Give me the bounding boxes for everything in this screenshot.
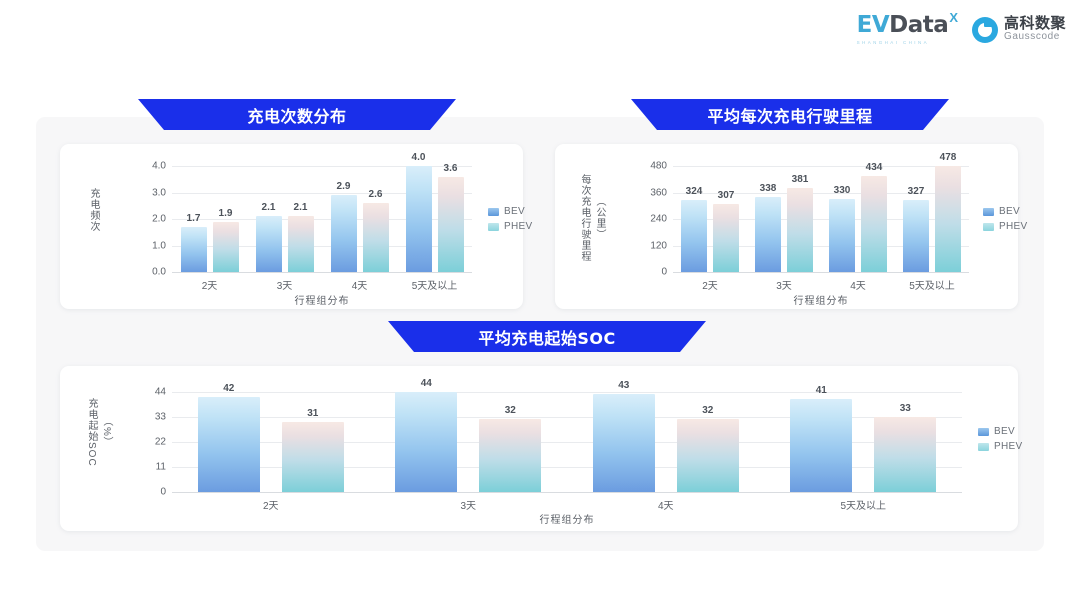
- y-tick-label: 11: [156, 462, 166, 473]
- bar-group: 2.12.13天: [247, 166, 322, 272]
- gausscode-name-cn: 高科数聚: [1004, 16, 1066, 32]
- bar-value-label: 2.9: [337, 181, 351, 192]
- bar-groups: 42312天44323天43324天41335天及以上: [172, 392, 962, 492]
- y-tick-label: 3.0: [152, 187, 166, 198]
- legend-label: PHEV: [994, 441, 1022, 452]
- legend-label: PHEV: [504, 221, 532, 232]
- chart-banner-1: 充电次数分布: [138, 99, 456, 130]
- plot-area-3: 01122334442312天44323天43324天41335天及以上: [172, 392, 962, 492]
- legend-swatch-phev: [983, 223, 994, 231]
- evdata-logo: EVData X SHANGHAI CHINA: [857, 14, 958, 45]
- bar-value-label: 43: [618, 380, 629, 391]
- bar-value-label: 330: [834, 185, 851, 196]
- y-tick-label: 44: [155, 387, 166, 398]
- y-axis-label-2: 每次充电行驶里程（公里）: [577, 174, 607, 262]
- bar-phev[interactable]: 32: [479, 419, 541, 492]
- x-tick-label: 2天: [202, 277, 218, 292]
- bar-bev[interactable]: 2.1: [256, 216, 282, 272]
- y-axis-label-line1: 充电频次: [86, 188, 101, 232]
- y-axis-label-3: 充电起始SOC（%）: [84, 398, 114, 467]
- y-axis-label-1: 充电频次: [86, 188, 101, 232]
- x-tick-label: 4天: [352, 277, 368, 292]
- y-tick-label: 240: [650, 214, 667, 225]
- x-tick-label: 2天: [702, 277, 718, 292]
- plot-area-2: 01202403604803243072天3383813天3304344天327…: [673, 166, 969, 272]
- bar-group: 3383813天: [747, 166, 821, 272]
- y-axis-label-line2: （公里）: [592, 196, 607, 240]
- chart-title-1: 充电次数分布: [247, 103, 346, 127]
- x-axis-label-2: 行程组分布: [673, 292, 969, 307]
- gausscode-logo: 高科数聚 Gausscode: [972, 16, 1066, 42]
- legend-item-bev[interactable]: BEV: [983, 206, 1027, 217]
- legend-item-phev[interactable]: PHEV: [983, 221, 1027, 232]
- bar-value-label: 2.1: [294, 202, 308, 213]
- bar-group: 2.92.64天: [322, 166, 397, 272]
- legend-label: BEV: [999, 206, 1020, 217]
- evdata-wordmark: EVData: [857, 14, 949, 37]
- legend-item-bev[interactable]: BEV: [978, 426, 1022, 437]
- bar-value-label: 3.6: [444, 163, 458, 174]
- logo-bar: EVData X SHANGHAI CHINA 高科数聚 Gausscode: [857, 14, 1066, 45]
- bar-value-label: 434: [866, 162, 883, 173]
- x-tick-label: 5天及以上: [909, 277, 955, 292]
- bar-phev[interactable]: 33: [874, 417, 936, 492]
- chart-area-3: 充电起始SOC（%）01122334442312天44323天43324天413…: [60, 366, 1018, 531]
- legend-label: PHEV: [999, 221, 1027, 232]
- legend-3: BEVPHEV: [978, 426, 1022, 452]
- x-tick-label: 3天: [277, 277, 293, 292]
- bar-groups: 3243072天3383813天3304344天3274785天及以上: [673, 166, 969, 272]
- y-tick-label: 0.0: [152, 267, 166, 278]
- bar-value-label: 33: [900, 403, 911, 414]
- bar-phev[interactable]: 381: [787, 188, 813, 272]
- legend-swatch-bev: [978, 428, 989, 436]
- bar-group: 3304344天: [821, 166, 895, 272]
- bar-value-label: 32: [505, 405, 516, 416]
- y-tick-label: 2.0: [152, 214, 166, 225]
- y-tick-label: 22: [155, 437, 166, 448]
- x-tick-label: 2天: [263, 497, 279, 512]
- legend-swatch-bev: [983, 208, 994, 216]
- bar-bev[interactable]: 1.7: [181, 227, 207, 272]
- bar-value-label: 42: [223, 383, 234, 394]
- legend-item-phev[interactable]: PHEV: [978, 441, 1022, 452]
- bar-bev[interactable]: 2.9: [331, 195, 357, 272]
- chart-area-1: 充电频次0.01.02.03.04.01.71.92天2.12.13天2.92.…: [60, 144, 523, 309]
- slide-root: EVData X SHANGHAI CHINA 高科数聚 Gausscode 充…: [0, 0, 1080, 608]
- bar-value-label: 41: [816, 385, 827, 396]
- bar-phev[interactable]: 2.6: [363, 203, 389, 272]
- y-tick-label: 1.0: [152, 240, 166, 251]
- bar-group: 41335天及以上: [765, 392, 963, 492]
- bar-phev[interactable]: 3.6: [438, 177, 464, 272]
- bar-bev[interactable]: 42: [198, 397, 260, 492]
- y-axis-label-line1: 每次充电行驶里程: [577, 174, 592, 262]
- bar-value-label: 1.9: [219, 208, 233, 219]
- legend-1: BEVPHEV: [488, 206, 532, 232]
- bar-bev[interactable]: 43: [593, 394, 655, 492]
- chart-card-2: 每次充电行驶里程（公里）01202403604803243072天3383813…: [555, 144, 1018, 309]
- bar-value-label: 32: [702, 405, 713, 416]
- y-tick-label: 120: [650, 240, 667, 251]
- y-tick-label: 480: [650, 161, 667, 172]
- y-axis-label-line2: （%）: [99, 416, 114, 448]
- bar-value-label: 381: [792, 174, 809, 185]
- bar-phev[interactable]: 1.9: [213, 222, 239, 272]
- bar-group: 3243072天: [673, 166, 747, 272]
- x-tick-label: 3天: [460, 497, 476, 512]
- legend-item-bev[interactable]: BEV: [488, 206, 532, 217]
- legend-swatch-bev: [488, 208, 499, 216]
- x-axis-label-1: 行程组分布: [172, 292, 472, 307]
- y-tick-label: 360: [650, 187, 667, 198]
- bar-phev[interactable]: 2.1: [288, 216, 314, 272]
- bar-bev[interactable]: 4.0: [406, 166, 432, 272]
- y-tick-label: 0: [160, 487, 166, 498]
- bar-value-label: 4.0: [412, 152, 426, 163]
- chart-banner-2: 平均每次充电行驶里程: [631, 99, 949, 130]
- x-axis-line: [172, 272, 472, 273]
- x-axis-line: [673, 272, 969, 273]
- x-tick-label: 4天: [850, 277, 866, 292]
- bar-groups: 1.71.92天2.12.13天2.92.64天4.03.65天及以上: [172, 166, 472, 272]
- y-tick-label: 0: [661, 267, 667, 278]
- bar-phev[interactable]: 32: [677, 419, 739, 492]
- x-tick-label: 4天: [658, 497, 674, 512]
- bar-phev[interactable]: 31: [282, 422, 344, 492]
- bar-value-label: 44: [421, 378, 432, 389]
- x-tick-label: 3天: [776, 277, 792, 292]
- x-axis-label-3: 行程组分布: [172, 511, 962, 526]
- bar-bev[interactable]: 327: [903, 200, 929, 272]
- evdata-prefix: EV: [857, 12, 890, 38]
- legend-swatch-phev: [488, 223, 499, 231]
- bar-group: 3274785天及以上: [895, 166, 969, 272]
- gausscode-name-en: Gausscode: [1004, 32, 1066, 43]
- bar-bev[interactable]: 324: [681, 200, 707, 272]
- bar-value-label: 324: [686, 186, 703, 197]
- bar-value-label: 327: [908, 186, 925, 197]
- chart-card-3: 充电起始SOC（%）01122334442312天44323天43324天413…: [60, 366, 1018, 531]
- y-tick-label: 4.0: [152, 161, 166, 172]
- legend-label: BEV: [994, 426, 1015, 437]
- bar-phev[interactable]: 307: [713, 204, 739, 272]
- gausscode-mark-icon: [972, 17, 998, 43]
- bar-group: 42312天: [172, 392, 370, 492]
- bar-bev[interactable]: 41: [790, 399, 852, 492]
- bar-value-label: 338: [760, 183, 777, 194]
- chart-area-2: 每次充电行驶里程（公里）01202403604803243072天3383813…: [555, 144, 1018, 309]
- bar-value-label: 31: [307, 408, 318, 419]
- legend-label: BEV: [504, 206, 525, 217]
- bar-bev[interactable]: 338: [755, 197, 781, 272]
- chart-card-1: 充电频次0.01.02.03.04.01.71.92天2.12.13天2.92.…: [60, 144, 523, 309]
- bar-group: 1.71.92天: [172, 166, 247, 272]
- bar-phev[interactable]: 434: [861, 176, 887, 272]
- y-axis-label-line1: 充电起始SOC: [84, 398, 99, 467]
- chart-title-3: 平均充电起始SOC: [478, 325, 615, 349]
- bar-value-label: 2.1: [262, 202, 276, 213]
- bar-group: 43324天: [567, 392, 765, 492]
- bar-group: 44323天: [370, 392, 568, 492]
- legend-2: BEVPHEV: [983, 206, 1027, 232]
- bar-bev[interactable]: 330: [829, 199, 855, 272]
- x-tick-label: 5天及以上: [412, 277, 458, 292]
- y-tick-label: 33: [155, 412, 166, 423]
- bar-value-label: 478: [940, 152, 957, 163]
- x-tick-label: 5天及以上: [840, 497, 886, 512]
- evdata-superscript-icon: X: [949, 11, 958, 24]
- bar-group: 4.03.65天及以上: [397, 166, 472, 272]
- bar-value-label: 2.6: [369, 189, 383, 200]
- x-axis-line: [172, 492, 962, 493]
- bar-value-label: 307: [718, 190, 735, 201]
- bar-phev[interactable]: 478: [935, 166, 961, 272]
- legend-item-phev[interactable]: PHEV: [488, 221, 532, 232]
- bar-bev[interactable]: 44: [395, 392, 457, 492]
- legend-swatch-phev: [978, 443, 989, 451]
- chart-title-2: 平均每次充电行驶里程: [707, 103, 872, 127]
- chart-banner-3: 平均充电起始SOC: [388, 321, 706, 352]
- evdata-suffix: Data: [889, 12, 948, 38]
- evdata-tagline: SHANGHAI CHINA: [857, 40, 929, 45]
- plot-area-1: 0.01.02.03.04.01.71.92天2.12.13天2.92.64天4…: [172, 166, 472, 272]
- bar-value-label: 1.7: [187, 213, 201, 224]
